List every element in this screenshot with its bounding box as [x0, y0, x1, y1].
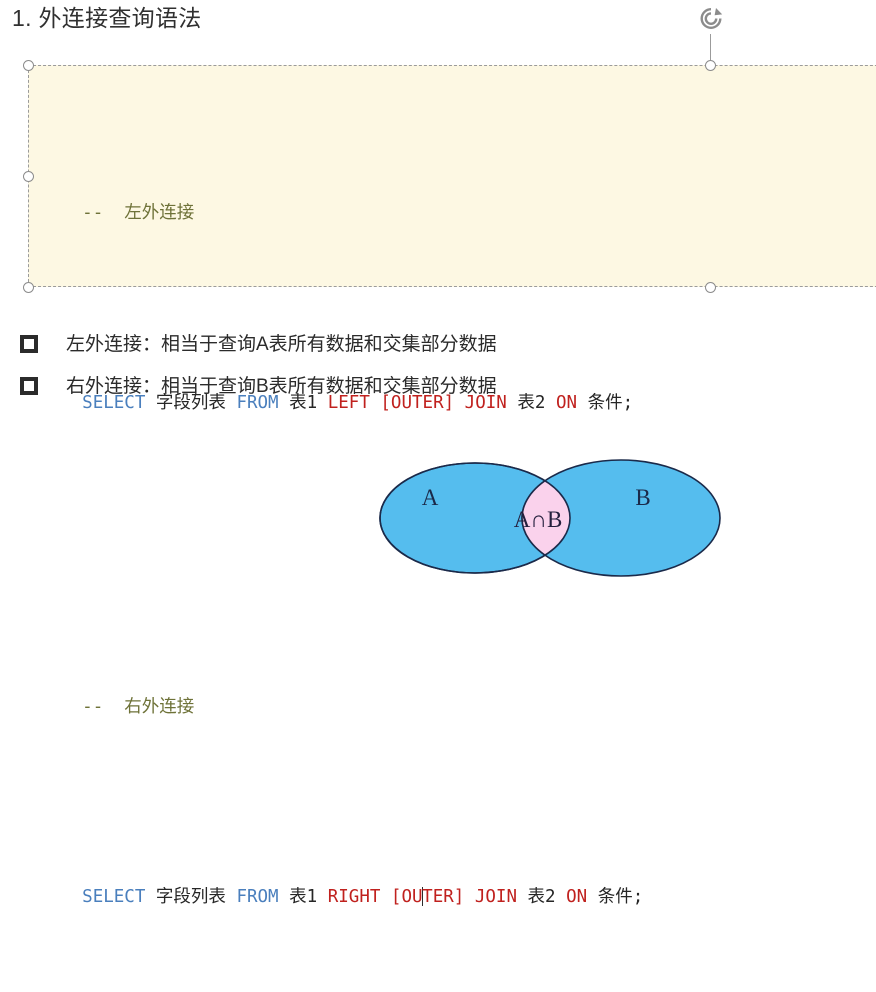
code-token-on: ON — [566, 887, 587, 907]
code-token-table2: 表2 — [517, 887, 566, 907]
resize-handle-bottom-left[interactable] — [23, 282, 34, 293]
code-token-from: FROM — [236, 887, 278, 907]
code-line-sql-right[interactable]: SELECT 字段列表 FROM 表1 RIGHT [OUTER] JOIN 表… — [40, 840, 870, 954]
code-token-comment-text: 左外连接 — [114, 203, 195, 223]
square-bullet-icon — [20, 377, 38, 395]
code-token-right-outer-join-part1: RIGHT [OU — [328, 887, 423, 907]
code-token-table1: 表1 — [279, 887, 328, 907]
code-token-select: SELECT — [82, 887, 145, 907]
venn-label-b: B — [635, 485, 650, 510]
resize-handle-top-center[interactable] — [705, 60, 716, 71]
code-token-right-outer-join-part2: TER] JOIN — [422, 887, 517, 907]
list-item[interactable]: 右外连接：相当于查询B表所有数据和交集部分数据 — [20, 374, 860, 416]
venn-diagram[interactable]: A B A∩B — [378, 450, 730, 585]
resize-handle-middle-left[interactable] — [23, 171, 34, 182]
resize-handle-top-left[interactable] — [23, 60, 34, 71]
list-item-label: 左外连接：相当于查询A表所有数据和交集部分数据 — [66, 332, 497, 358]
code-line-comment-right[interactable]: -- 右外连接 — [40, 650, 870, 764]
code-token-condition: 条件; — [587, 887, 643, 907]
square-bullet-icon — [20, 335, 38, 353]
bullet-list[interactable]: 左外连接：相当于查询A表所有数据和交集部分数据 右外连接：相当于查询B表所有数据… — [20, 332, 860, 416]
code-token-comment-text: 右外连接 — [114, 697, 195, 717]
resize-handle-bottom-center[interactable] — [705, 282, 716, 293]
venn-label-a: A — [422, 485, 439, 510]
rotate-icon[interactable] — [697, 5, 725, 33]
page-title: 1. 外连接查询语法 — [12, 2, 202, 34]
code-line-comment-left[interactable]: -- 左外连接 — [40, 156, 870, 270]
code-token-comment: -- — [82, 697, 114, 717]
code-token-fields: 字段列表 — [145, 887, 236, 907]
list-item[interactable]: 左外连接：相当于查询A表所有数据和交集部分数据 — [20, 332, 860, 374]
venn-label-intersection: A∩B — [514, 507, 563, 532]
code-token-comment: -- — [82, 203, 114, 223]
list-item-label: 右外连接：相当于查询B表所有数据和交集部分数据 — [66, 374, 497, 400]
